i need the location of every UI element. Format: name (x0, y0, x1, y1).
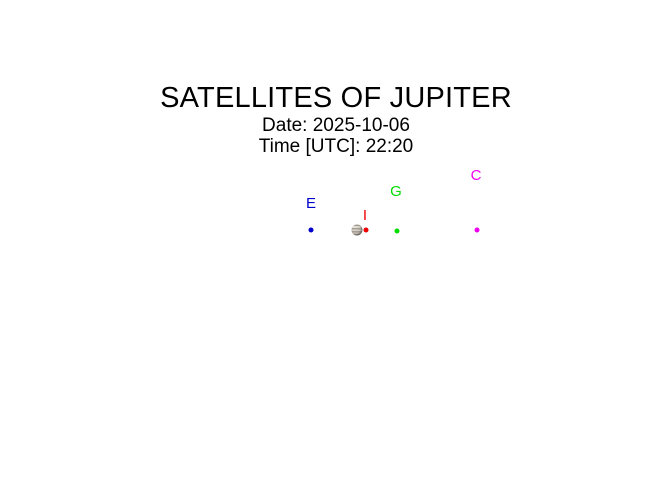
moon-label-io: I (363, 208, 367, 223)
moon-label-europa: E (306, 196, 316, 211)
jupiter-disk (352, 225, 363, 236)
moon-marker-io (364, 228, 369, 233)
moon-label-ganymede: G (390, 184, 402, 199)
satellite-chart-canvas: SATELLITES OF JUPITER Date: 2025-10-06 T… (0, 0, 672, 480)
moon-marker-europa (309, 228, 314, 233)
moon-marker-ganymede (395, 229, 400, 234)
sky-field: EIGC (0, 0, 672, 480)
moon-marker-callisto (475, 228, 480, 233)
moon-label-callisto: C (471, 168, 482, 183)
